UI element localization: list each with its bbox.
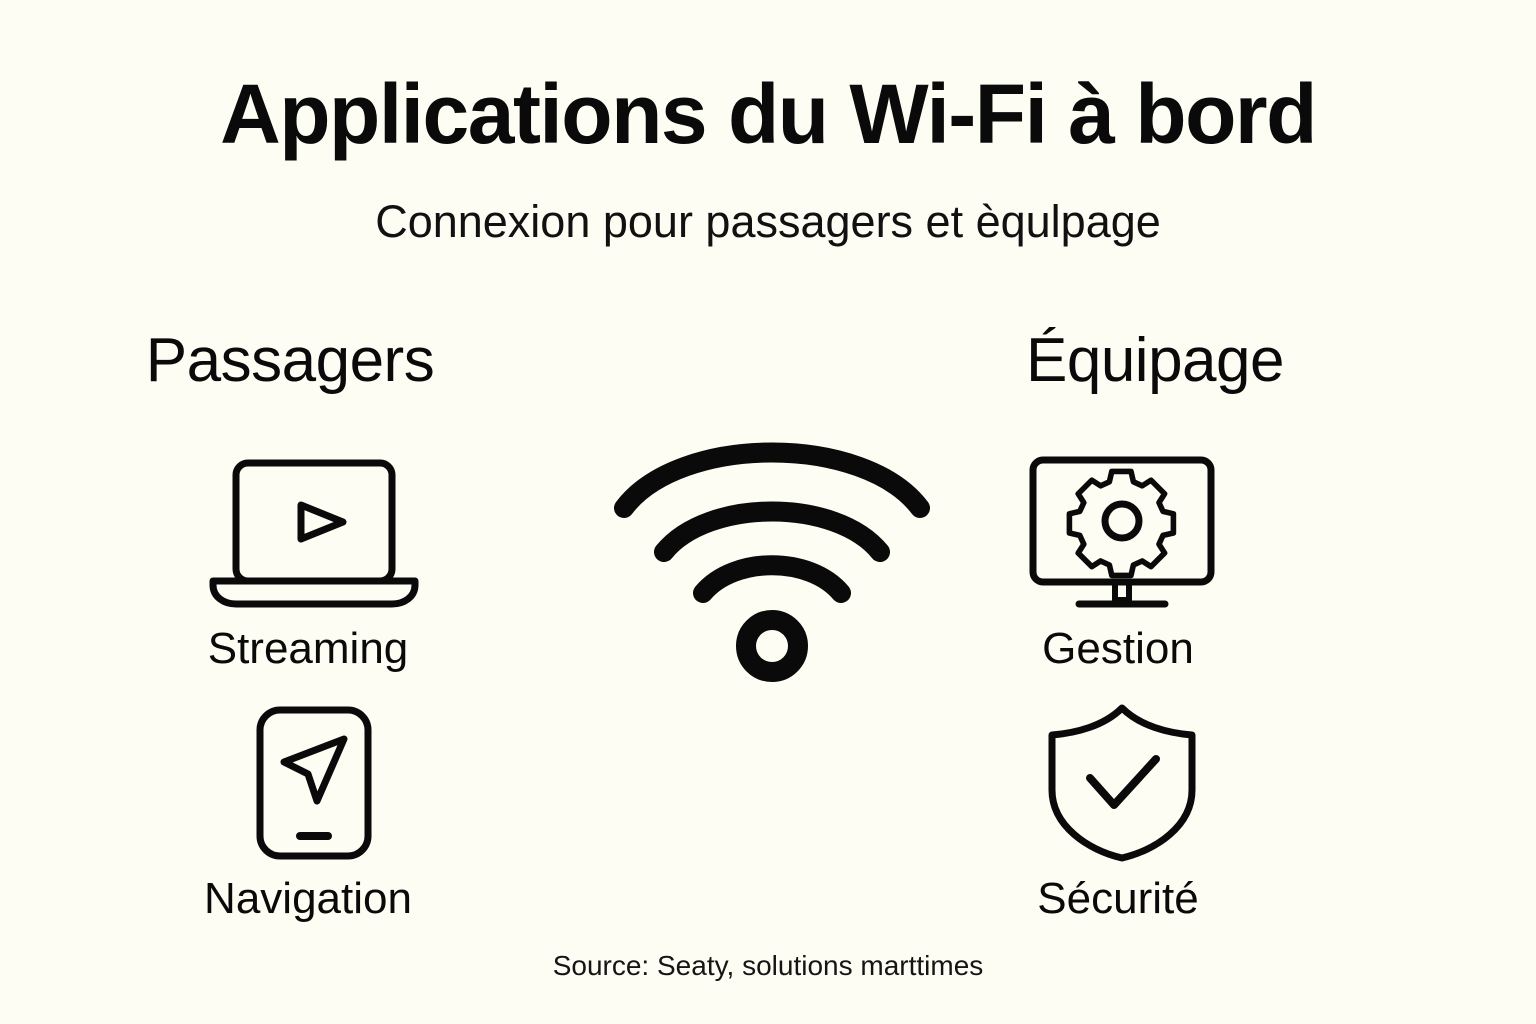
shield-check-icon [920,700,1390,865]
page-subtitle: Connexion pour passagers et èqulpage [0,156,1536,244]
monitor-stand [1115,582,1129,600]
check-icon [1090,759,1156,805]
monitor-screen [1033,460,1211,582]
columns-region: Passagers Streaming [0,330,1536,940]
play-triangle-icon [301,505,343,539]
shield-outline [1052,708,1192,858]
laptop-play-icon-svg [208,457,420,609]
item-gestion: Gestion [920,450,1390,671]
shield-check-icon-svg [1044,702,1200,864]
column-heading-crew: Équipage [920,330,1390,410]
item-securite: Sécurité [920,700,1390,921]
monitor-gear-icon [920,450,1390,615]
item-label-streaming: Streaming [55,615,525,671]
gear-center-hole [1105,504,1139,538]
item-label-gestion: Gestion [920,615,1390,671]
navigation-arrow-icon [284,739,344,801]
phone-navigation-icon-svg [254,705,374,861]
column-heading-passengers: Passagers [55,330,525,410]
gear-outline [1069,471,1173,575]
item-streaming: Streaming [55,450,525,671]
source-caption: Source: Seaty, solutions marttimes [0,950,1536,982]
item-label-navigation: Navigation [55,865,525,921]
item-label-securite: Sécurité [920,865,1390,921]
monitor-gear-icon-svg [1027,454,1217,612]
phone-navigation-icon [55,700,525,865]
laptop-screen [236,463,392,581]
infographic-poster: Applications du Wi-Fi à bord Connexion p… [0,0,1536,1024]
item-navigation: Navigation [55,700,525,921]
laptop-play-icon [55,450,525,615]
laptop-base [213,581,415,604]
page-title: Applications du Wi-Fi à bord [0,72,1536,156]
column-passengers: Passagers Streaming [55,330,525,410]
header: Applications du Wi-Fi à bord Connexion p… [0,72,1536,244]
column-crew: Équipage Gestion [920,330,1390,410]
